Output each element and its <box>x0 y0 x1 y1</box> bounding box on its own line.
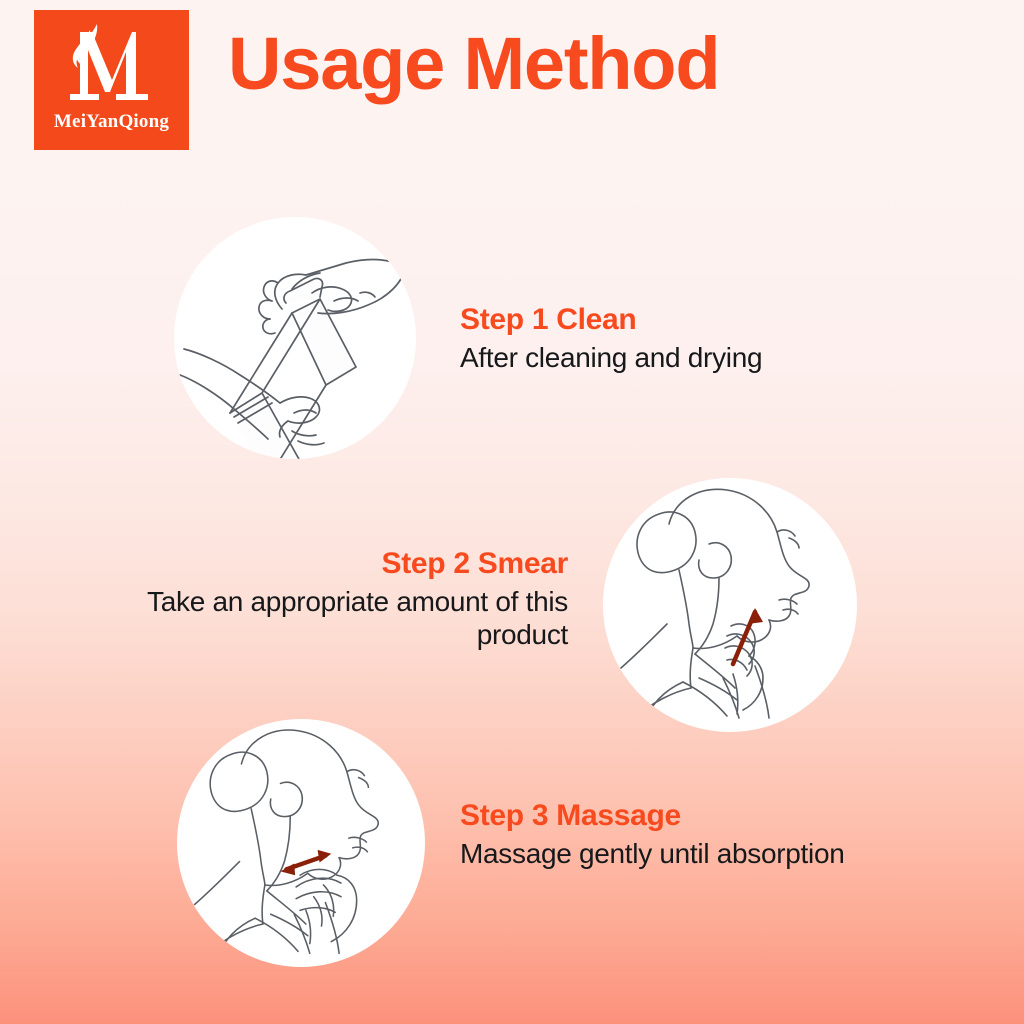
step-3-heading: Step 3 Massage <box>460 798 930 833</box>
brand-logo: MeiYanQiong <box>34 10 189 150</box>
step-1-text-block: Step 1 Clean After cleaning and drying <box>460 302 920 374</box>
step-3-text-block: Step 3 Massage Massage gently until abso… <box>460 798 930 870</box>
brand-name: MeiYanQiong <box>54 112 169 131</box>
step-1-heading: Step 1 Clean <box>460 302 920 337</box>
step-3-description: Massage gently until absorption <box>460 837 930 870</box>
page-title: Usage Method <box>228 27 719 101</box>
step-2-description: Take an appropriate amount of this produ… <box>120 585 568 651</box>
step-2-text-block: Step 2 Smear Take an appropriate amount … <box>120 546 568 651</box>
step-1-description: After cleaning and drying <box>460 341 920 374</box>
usage-method-poster: MeiYanQiong Usage Method <box>0 0 1024 1024</box>
flame-m-monogram-icon <box>52 16 172 114</box>
step-2-illustration <box>603 478 857 732</box>
woman-neck-applying-icon <box>603 478 857 732</box>
woman-neck-massage-icon <box>177 719 425 967</box>
step-2-heading: Step 2 Smear <box>120 546 568 581</box>
step-1-illustration <box>174 217 416 459</box>
hands-holding-tube-icon <box>174 217 416 459</box>
step-3-illustration <box>177 719 425 967</box>
